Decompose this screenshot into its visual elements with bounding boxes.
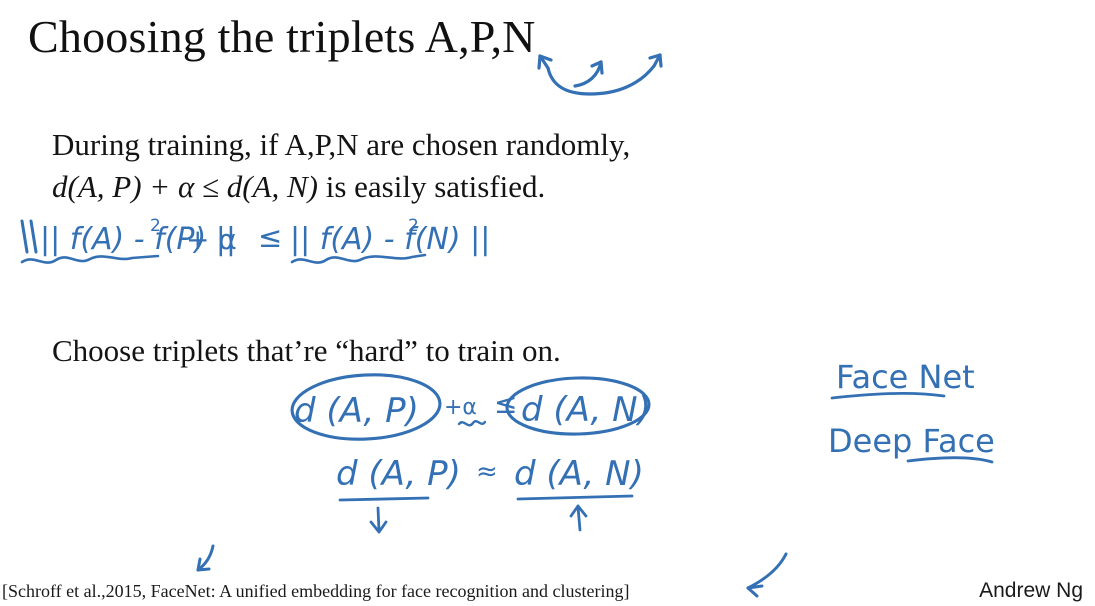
- author-signature: Andrew Ng: [979, 578, 1083, 604]
- hard-triplet-row-2: d (A, P) ≈ d (A, N): [336, 454, 644, 532]
- norm-left-expression: || f(A) - f(P) ||: [40, 222, 236, 257]
- curved-arrows-to-A-P-N-icon: [539, 55, 661, 94]
- norm-right-expression: || f(A) - f(N) ||: [290, 222, 490, 257]
- row2-right-underline: [518, 496, 632, 499]
- row1-right-term-circle: [506, 376, 649, 436]
- body-text-line-2: d(A, P) + α ≤ d(A, N) is easily satisfie…: [52, 166, 545, 208]
- face-net-note: Face Net: [836, 358, 975, 396]
- norm-left-exponent: 2: [150, 216, 161, 236]
- handwritten-norm-equation: || f(A) - f(P) || 2 + α ≤ || f(A) - f(N)…: [22, 216, 490, 263]
- row1-plus-alpha: +α: [444, 395, 477, 420]
- model-name-notes: Face Net Deep Face: [828, 358, 995, 462]
- norm-plus-alpha: + α: [186, 223, 237, 256]
- row1-left-term: d (A, P): [294, 391, 419, 431]
- inequality-formula-tail: is easily satisfied.: [318, 169, 545, 204]
- inequality-formula: d(A, P) + α ≤ d(A, N): [52, 169, 318, 204]
- norm-relation-symbol: ≤: [258, 220, 282, 254]
- row2-relation-symbol: ≈: [476, 457, 498, 487]
- citation-text: [Schroff et al.,2015, FaceNet: A unified…: [2, 580, 629, 602]
- deep-face-underline: [908, 458, 992, 462]
- row2-left-underline: [340, 498, 428, 500]
- left-arrow-to-citation-icon: [748, 554, 786, 596]
- row2-up-arrow-icon: [571, 506, 586, 530]
- down-left-arrow-above-citation-icon: [198, 546, 213, 570]
- row2-down-arrow-icon: [371, 508, 386, 532]
- slide-canvas: Choosing the triplets A,P,N During train…: [0, 0, 1095, 606]
- handwritten-ink-layer: || f(A) - f(P) || 2 + α ≤ || f(A) - f(N)…: [0, 0, 1095, 606]
- row1-left-term-circle: [290, 371, 441, 443]
- body-text-line-3: Choose triplets that’re “hard” to train …: [52, 330, 561, 372]
- norm-right-exponent: 2: [408, 216, 419, 236]
- norm-left-squiggle-underline: [22, 256, 158, 263]
- row2-right-term: d (A, N): [514, 454, 644, 494]
- row2-left-term: d (A, P): [336, 454, 461, 494]
- body-text-line-1: During training, if A,P,N are chosen ran…: [52, 124, 630, 166]
- norm-right-squiggle-underline: [292, 255, 425, 263]
- row1-alpha-squiggle: [459, 421, 485, 425]
- hard-triplet-row-1: d (A, P) +α ≤ d (A, N): [290, 371, 650, 443]
- deep-face-note: Deep Face: [828, 422, 995, 460]
- row1-right-term: d (A, N): [521, 390, 651, 430]
- face-net-underline: [832, 393, 944, 398]
- page-title: Choosing the triplets A,P,N: [28, 8, 536, 66]
- row1-relation-symbol: ≤: [494, 387, 517, 420]
